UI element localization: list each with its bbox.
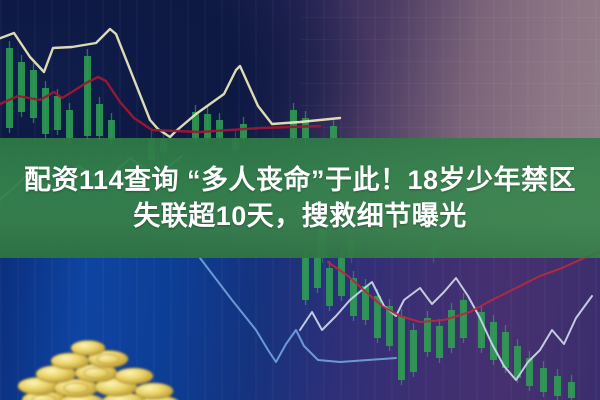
headline-container: 配资114查询 “多人丧命”于此！18岁少年禁区 失联超10天，搜救细节曝光 — [0, 138, 600, 258]
chart-line-cream-line-top — [0, 29, 340, 137]
headline-line-1: 配资114查询 “多人丧命”于此！18岁少年禁区 — [24, 165, 576, 195]
gold-coins-pile-icon — [8, 336, 198, 400]
headline-line-2: 失联超10天，搜救细节曝光 — [133, 201, 467, 231]
news-thumbnail-image: 配资114查询 “多人丧命”于此！18岁少年禁区 失联超10天，搜救细节曝光 — [0, 0, 600, 400]
